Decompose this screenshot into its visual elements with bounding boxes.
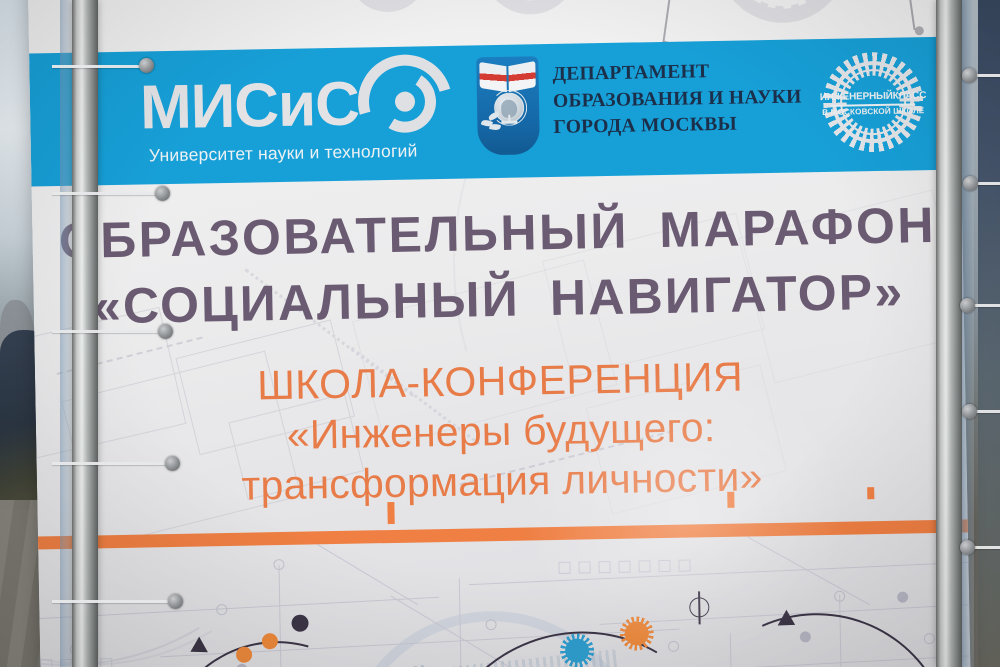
left-glazing-strip: [60, 0, 72, 667]
banner-grommet[interactable]: [960, 298, 975, 313]
crosshair-icon: [689, 597, 709, 617]
orange-tick: [867, 487, 874, 499]
orange-gear-node: [619, 616, 654, 651]
department-line-3: ГОРОДА МОСКВЫ: [553, 110, 802, 141]
right-glazing-strip: [962, 0, 974, 667]
banner-grommet[interactable]: [963, 176, 978, 191]
department-line-2: ОБРАЗОВАНИЯ И НАУКИ: [553, 84, 802, 115]
misis-tagline: Университет науки и технологий: [149, 140, 418, 166]
banner-tether: [52, 600, 172, 603]
right-wall-glazing: [978, 0, 1000, 667]
moscow-department-of-education-logo: ДЕПАРТАМЕНТ ОБРАЗОВАНИЯ И НАУКИ ГОРОДА М…: [476, 51, 802, 155]
banner-grommet[interactable]: [155, 186, 170, 201]
concentric-rings-icon: [357, 54, 455, 152]
banner-grommet[interactable]: [960, 540, 975, 555]
banner-tether: [52, 330, 164, 333]
antenna-line: [903, 0, 916, 30]
banner-grommet[interactable]: [168, 594, 183, 609]
banner-body: ОБРАЗОВАТЕЛЬНЫЙ МАРАФОН «СОЦИАЛЬНЫЙ НАВИ…: [32, 169, 972, 667]
engineering-class-logo: ИНЖЕНЕРНЫЙКЛАСС В МОСКОВСКОЙ ШКОЛЕ: [816, 49, 930, 155]
blue-gear-node: [560, 633, 595, 667]
dark-node: [291, 615, 308, 632]
banner-grommet[interactable]: [962, 404, 977, 419]
orange-tick: [727, 492, 734, 508]
antenna-node: [915, 26, 924, 35]
banner-tether: [52, 65, 142, 68]
faint-gear-icon: [482, 0, 579, 15]
banner-grommet[interactable]: [165, 456, 180, 471]
department-text: ДЕПАРТАМЕНТ ОБРАЗОВАНИЯ И НАУКИ ГОРОДА М…: [552, 51, 802, 141]
banner-headline: ОБРАЗОВАТЕЛЬНЫЙ МАРАФОН «СОЦИАЛЬНЫЙ НАВИ…: [32, 191, 964, 340]
banner-subheadline: ШКОЛА-КОНФЕРЕНЦИЯ «Инженеры будущего: тр…: [35, 347, 968, 514]
antenna-line: [662, 0, 676, 45]
left-support-pole: [72, 0, 98, 667]
photo-scene: МИСиС Университет науки и технологий: [0, 0, 1000, 667]
banner-tether: [52, 192, 160, 195]
orange-tick: [387, 502, 394, 524]
banner-grommet[interactable]: [139, 58, 154, 73]
engineering-class-line-1: ИНЖЕНЕРНЫЙКЛАСС: [817, 90, 929, 103]
banner-grommet[interactable]: [962, 68, 977, 83]
banner-header-band: МИСиС Университет науки и технологий: [29, 37, 961, 187]
banner-grommet[interactable]: [158, 324, 173, 339]
misis-logo: МИСиС Университет науки и технологий: [139, 63, 471, 174]
faint-gear-icon: [347, 0, 428, 13]
right-support-pole: [936, 0, 962, 667]
book-and-globe-shield-icon: [476, 56, 540, 155]
banner-tether: [52, 462, 170, 465]
faint-gear-icon: [716, 0, 848, 24]
misis-wordmark: МИСиС: [140, 74, 360, 140]
arrow-arc: [643, 574, 972, 667]
